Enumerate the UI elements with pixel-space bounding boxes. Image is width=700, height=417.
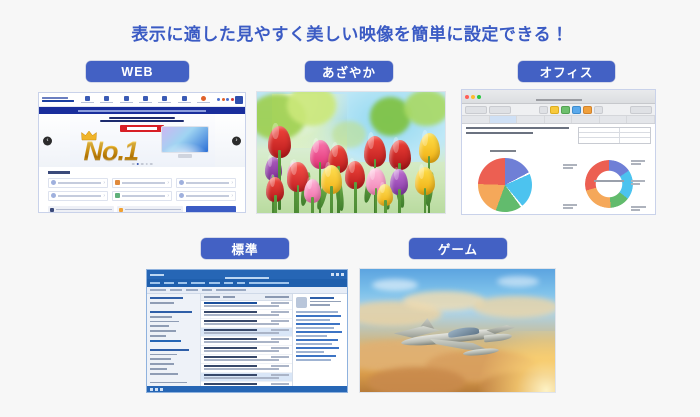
- tab-info[interactable]: [117, 206, 183, 214]
- preview-web: ‹ › No.1 › › ›: [38, 92, 246, 213]
- promo-banner[interactable]: [186, 206, 236, 214]
- utility-dot-1[interactable]: [217, 98, 220, 101]
- reading-pane: [293, 294, 347, 392]
- toolbar-button-1[interactable]: [539, 106, 548, 114]
- message-row-selected[interactable]: [201, 328, 292, 337]
- pie-chart-title: [490, 150, 516, 152]
- mode-badge-game[interactable]: ゲーム: [409, 238, 507, 259]
- message-body: [296, 311, 344, 361]
- mail-client-window: [147, 270, 347, 392]
- carousel-dots[interactable]: [132, 163, 153, 166]
- status-icon-1: [150, 388, 153, 391]
- toolbar-button-4[interactable]: [572, 106, 581, 114]
- message-row[interactable]: [201, 355, 292, 364]
- carousel-next-icon[interactable]: ›: [232, 136, 241, 145]
- nav-icon-4[interactable]: [139, 96, 152, 104]
- web-navbar: [39, 93, 245, 107]
- page-title: 表示に適した見やすく美しい映像を簡単に設定できる！: [0, 20, 700, 45]
- web-link-section: › › › › › ›: [39, 167, 245, 212]
- web-nav-utility: [217, 96, 243, 104]
- account-header: [150, 311, 192, 313]
- message-row[interactable]: [201, 373, 292, 382]
- ribbon-tab-5[interactable]: [572, 116, 600, 123]
- menu-icon[interactable]: [235, 96, 243, 104]
- link-cell-6[interactable]: ›: [176, 191, 236, 201]
- folder-pane: [147, 294, 201, 392]
- mail-window-title: [147, 269, 347, 284]
- folder-deleted[interactable]: [150, 330, 176, 332]
- folder-2-inbox[interactable]: [150, 354, 177, 356]
- message-row[interactable]: [201, 310, 292, 319]
- message-header: [296, 297, 344, 308]
- ribbon-tab-6[interactable]: [600, 116, 628, 123]
- table-row: [579, 138, 650, 143]
- preview-hyojun: [146, 269, 348, 393]
- utility-dot-2[interactable]: [222, 98, 225, 101]
- folder-group-header: [150, 297, 183, 299]
- toolbar-button-2[interactable]: [550, 106, 559, 114]
- window-title: [462, 89, 655, 106]
- web-announcement-bar[interactable]: [39, 107, 245, 114]
- filter-button[interactable]: [223, 296, 235, 298]
- fighter-jet-photo: [360, 269, 555, 392]
- link-cell-5[interactable]: ›: [112, 191, 172, 201]
- donut-callout-3: [631, 206, 649, 212]
- sort-by-date[interactable]: [204, 296, 220, 298]
- pie-chart: [470, 158, 548, 215]
- donut-callout-5: [563, 164, 581, 170]
- ribbon-tab-7[interactable]: [627, 116, 655, 123]
- tulip-red-4: [389, 140, 411, 170]
- ribbon-tabs: [462, 116, 655, 124]
- message-row[interactable]: [201, 346, 292, 355]
- message-row[interactable]: [201, 337, 292, 346]
- nav-icon-2[interactable]: [100, 96, 113, 104]
- mode-badge-web[interactable]: WEB: [86, 61, 189, 82]
- link-cell-4[interactable]: ›: [48, 191, 108, 201]
- command-reply[interactable]: [186, 289, 198, 291]
- cloud-8: [372, 279, 419, 291]
- tulip-pink-4: [304, 179, 321, 203]
- status-icon-3: [160, 388, 163, 391]
- web-nav-items: [74, 96, 217, 104]
- donut-chart: [563, 156, 649, 215]
- account-header-2: [150, 349, 189, 351]
- nav-icon-3[interactable]: [120, 96, 133, 104]
- folder-2-drafts[interactable]: [150, 358, 171, 360]
- tulip-yellow-4: [377, 184, 393, 206]
- folder-2-junk[interactable]: [150, 368, 167, 370]
- toolbar-button-3[interactable]: [561, 106, 570, 114]
- nav-icon-6[interactable]: [178, 96, 191, 104]
- folder-selected[interactable]: [150, 340, 181, 342]
- nav-icon-download[interactable]: [197, 96, 210, 104]
- tab-news[interactable]: [48, 206, 114, 214]
- status-icon-2: [155, 388, 158, 391]
- donut-center-label: [594, 180, 624, 182]
- section-heading: [48, 171, 70, 174]
- ribbon-tab-4[interactable]: [545, 116, 573, 123]
- cloud-9: [497, 276, 540, 287]
- message-row[interactable]: [201, 364, 292, 373]
- command-delete[interactable]: [170, 289, 182, 291]
- tulip-red-7: [266, 177, 284, 202]
- link-cell-2[interactable]: ›: [112, 178, 172, 188]
- mode-badge-office[interactable]: オフィス: [518, 61, 615, 82]
- sheet-area: [462, 124, 655, 214]
- folder-archive[interactable]: [150, 335, 166, 337]
- message-list-header: [201, 294, 292, 301]
- folder-2-archive[interactable]: [150, 373, 178, 375]
- hero-badge-11years: [120, 125, 164, 132]
- toolbar-button-6[interactable]: [594, 106, 603, 114]
- tulip-red-6: [345, 161, 365, 189]
- preview-office: [461, 89, 656, 215]
- folder-inbox[interactable]: [150, 316, 172, 318]
- nav-icon-1[interactable]: [81, 96, 94, 104]
- toolbar-button-5[interactable]: [583, 106, 592, 114]
- mail-main-area: [147, 294, 347, 392]
- data-table: [578, 127, 651, 144]
- utility-dot-4[interactable]: [231, 98, 234, 101]
- hero-no1-text: No.1: [84, 138, 139, 165]
- window-titlebar: [462, 90, 655, 104]
- web-news-tabs: [48, 206, 236, 214]
- message-row[interactable]: [201, 319, 292, 328]
- monitor-product-image: [161, 126, 209, 159]
- donut-chart-ring: [585, 160, 633, 208]
- toolbar-left-group: [465, 106, 511, 114]
- size-selector[interactable]: [489, 106, 511, 114]
- nav-icon-5[interactable]: [158, 96, 171, 104]
- folder-drafts[interactable]: [150, 321, 179, 323]
- list-options[interactable]: [265, 296, 289, 298]
- jet-nose: [484, 332, 513, 342]
- share-button[interactable]: [630, 106, 652, 114]
- tulip-yellow-1: [419, 133, 440, 163]
- spreadsheet-window: [462, 90, 655, 214]
- preview-game: [359, 268, 556, 393]
- cloud-6: [368, 367, 466, 392]
- command-forward[interactable]: [202, 289, 212, 291]
- donut-callout-4: [563, 204, 581, 210]
- utility-dot-3[interactable]: [226, 98, 229, 101]
- mode-badge-azayaka[interactable]: あざやか: [305, 61, 393, 82]
- toolbar-center-group: [539, 106, 603, 114]
- fighter-jet: [391, 313, 520, 362]
- hero-caption: [70, 116, 215, 123]
- mail-status-bar: [147, 386, 347, 392]
- web-hero-carousel: ‹ › No.1: [39, 114, 245, 167]
- tulip-yellow-2: [321, 165, 342, 194]
- tulip-yellow-3: [415, 167, 435, 195]
- foliage-blur-4: [404, 92, 445, 126]
- folder-search-folders[interactable]: [150, 382, 187, 384]
- ribbon-tab-2[interactable]: [490, 116, 518, 123]
- carousel-prev-icon[interactable]: ‹: [43, 136, 52, 145]
- tulip-red-3: [364, 136, 386, 167]
- link-cell-1[interactable]: ›: [48, 178, 108, 188]
- hero-slide: No.1: [70, 114, 215, 167]
- donut-callout-1: [631, 160, 649, 166]
- folder-item-favorites[interactable]: [150, 302, 174, 304]
- command-move[interactable]: [216, 289, 246, 291]
- mail-titlebar: [147, 270, 347, 279]
- folder-sent[interactable]: [150, 325, 169, 327]
- sheet-paragraph: [466, 127, 573, 134]
- link-cell-3[interactable]: ›: [176, 178, 236, 188]
- window-controls[interactable]: [331, 273, 344, 276]
- ribbon-tab-1[interactable]: [462, 116, 490, 123]
- message-list: [201, 294, 293, 392]
- font-selector[interactable]: [465, 106, 487, 114]
- io-data-logo-icon: [42, 95, 74, 105]
- web-link-grid: › › › › › ›: [48, 178, 236, 201]
- tulip-field-photo: [257, 92, 445, 213]
- sender-avatar: [296, 297, 307, 308]
- folder-2-sent[interactable]: [150, 363, 174, 365]
- tulip-red-1: [268, 126, 291, 158]
- mail-command-bar: [147, 287, 347, 294]
- ribbon-tab-3[interactable]: [517, 116, 545, 123]
- toolbar-right-group: [630, 106, 652, 114]
- spreadsheet-toolbar: [462, 104, 655, 116]
- mode-badge-hyojun[interactable]: 標準: [201, 238, 289, 259]
- preview-azayaka: [256, 91, 446, 214]
- message-row[interactable]: [201, 301, 292, 310]
- pie-chart-slices: [478, 158, 532, 212]
- command-new-mail[interactable]: [150, 289, 166, 291]
- sender-info: [310, 297, 344, 308]
- donut-callout-2: [631, 180, 649, 186]
- display-mode-showcase: 表示に適した見やすく美しい映像を簡単に設定できる！ WEB あざやか オフィス …: [0, 0, 700, 417]
